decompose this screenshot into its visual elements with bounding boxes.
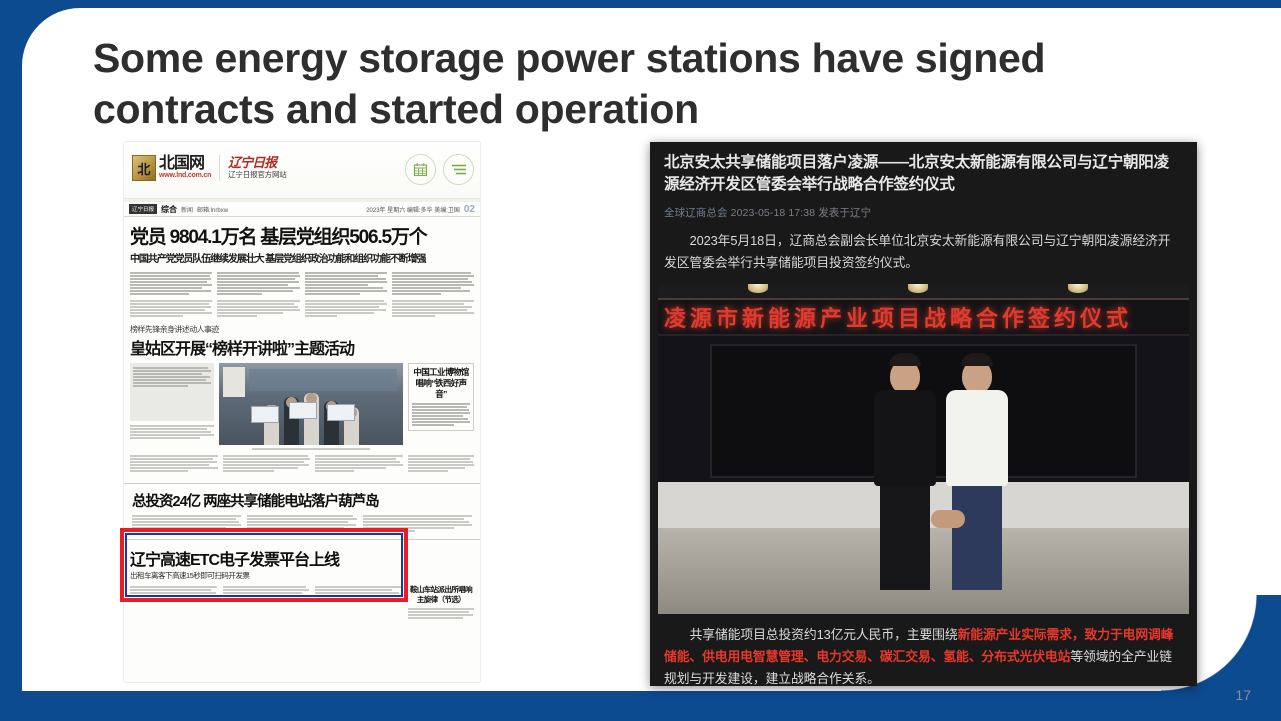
section-bar-section: 综合 [161, 204, 177, 215]
story-3-headline: 总投资24亿 两座共享储能电站落户葫芦岛 [124, 484, 480, 512]
text-column [247, 514, 356, 533]
sidebar-column: 中国工业博物馆唱响“铁西好声音” [408, 363, 474, 450]
article-timestamp: 2023-05-18 17:38 [731, 207, 816, 219]
footer-part-1: 共享储能项目总投资约13亿元人民币，主要围绕 [690, 627, 958, 642]
handshake [931, 510, 965, 528]
section-bar: 辽宁日报 综合 新闻 邮箱:lnrbxw 2023年 星期六 编辑:多华 美编:… [124, 202, 480, 217]
story-4-headline: 辽宁高速ETC电子发票平台上线 [124, 540, 480, 570]
sidebar-column: 鞍山车站派出所唱响主旋律（节选） [408, 585, 474, 620]
section-bar-email: 邮箱:lnrbxw [197, 205, 228, 214]
partner-subtitle: 辽宁日报官方网站 [228, 170, 286, 180]
person-right [946, 353, 1008, 590]
hamburger-menu-icon[interactable] [443, 154, 474, 185]
logo-divider [219, 155, 220, 181]
text-column [315, 585, 402, 620]
story-4-subhead: 出租车离客下高速15秒即可扫码开发票 [124, 570, 480, 583]
story-4: 辽宁高速ETC电子发票平台上线 出租车离客下高速15秒即可扫码开发票 鞍山车站派… [124, 539, 480, 620]
section-bar-subsection: 新闻 [181, 205, 193, 214]
article-screenshot: 北京安太共享储能项目落户凌源——北京安太新能源有限公司与辽宁朝阳凌源经济开发区管… [650, 142, 1197, 686]
logo-mark-icon: 北 [132, 155, 156, 181]
newspaper-masthead: 北 北国网 www.lnd.com.cn 辽宁日报 辽宁日报官方网站 [124, 142, 480, 199]
article-footer: 共享储能项目总投资约13亿元人民币，主要围绕新能源产业实际需求，致力于电网调峰储… [650, 614, 1197, 686]
slide-root: Some energy storage power stations have … [0, 0, 1281, 721]
text-column [363, 514, 472, 533]
section-bar-brand: 辽宁日报 [129, 204, 157, 214]
newspaper-scan: 北 北国网 www.lnd.com.cn 辽宁日报 辽宁日报官方网站 [124, 142, 480, 682]
newspaper-logo: 北 北国网 www.lnd.com.cn 辽宁日报 辽宁日报官方网站 [132, 155, 287, 181]
sidebar-column [408, 454, 474, 473]
page-title: Some energy storage power stations have … [93, 33, 1093, 135]
logo-url: www.lnd.com.cn [159, 171, 211, 180]
text-column [392, 271, 474, 318]
story-1-headline: 党员 9804.1万名 基层党组织506.5万个 [124, 217, 480, 249]
section-bar-page: 02 [464, 204, 475, 215]
story-2-kicker: 榜样先锋亲身讲述动人事迹 [124, 318, 480, 335]
text-column [217, 271, 299, 318]
article-photo: 凌源市新能源产业项目战略合作签约仪式 [658, 284, 1189, 614]
story-3: 总投资24亿 两座共享储能电站落户葫芦岛 [124, 483, 480, 539]
person-left [874, 353, 936, 590]
article-body: 2023年5月18日，辽商总会副会长单位北京安太新能源有限公司与辽宁朝阳凌源经济… [650, 224, 1197, 284]
text-column [223, 585, 310, 620]
partner-brand: 辽宁日报 [228, 156, 286, 170]
text-column [223, 454, 311, 473]
story-2-extra-columns [124, 450, 480, 473]
page-number: 17 [1235, 687, 1251, 703]
text-column [130, 454, 218, 473]
lower-sidebar-headline: 鞍山车站派出所唱响主旋律（节选） [408, 585, 474, 605]
story-2-headline: 皇姑区开展“榜样开讲啦”主题活动 [124, 335, 480, 361]
article-source: 全球辽商总会 [664, 207, 728, 219]
article-location: 发表于辽宁 [818, 207, 871, 219]
section-bar-date: 2023年 星期六 编辑:多华 美编:卫国 [366, 205, 460, 214]
led-banner-text: 凌源市新能源产业项目战略合作签约仪式 [658, 301, 1132, 333]
calendar-icon[interactable] [405, 154, 436, 185]
story-2-body: 中国工业博物馆唱响“铁西好声音” [124, 361, 480, 450]
story-1-columns [124, 268, 480, 318]
text-column [130, 271, 212, 318]
article-meta: 全球辽商总会 2023-05-18 17:38 发表于辽宁 [650, 199, 1197, 224]
story-1-subhead: 中国共产党党员队伍继续发展壮大 基层党组织政治功能和组织功能不断增强 [124, 249, 480, 268]
text-column [130, 585, 217, 620]
text-column [132, 514, 241, 533]
text-column [305, 271, 387, 318]
led-banner: 凌源市新能源产业项目战略合作签约仪式 [658, 298, 1189, 336]
story-2-photo [219, 363, 403, 450]
text-column [315, 454, 403, 473]
text-column [130, 363, 214, 450]
logo-name: 北国网 [159, 156, 211, 171]
sidebar-story-headline: 中国工业博物馆唱响“铁西好声音” [412, 367, 470, 400]
article-title: 北京安太共享储能项目落户凌源——北京安太新能源有限公司与辽宁朝阳凌源经济开发区管… [650, 142, 1197, 199]
